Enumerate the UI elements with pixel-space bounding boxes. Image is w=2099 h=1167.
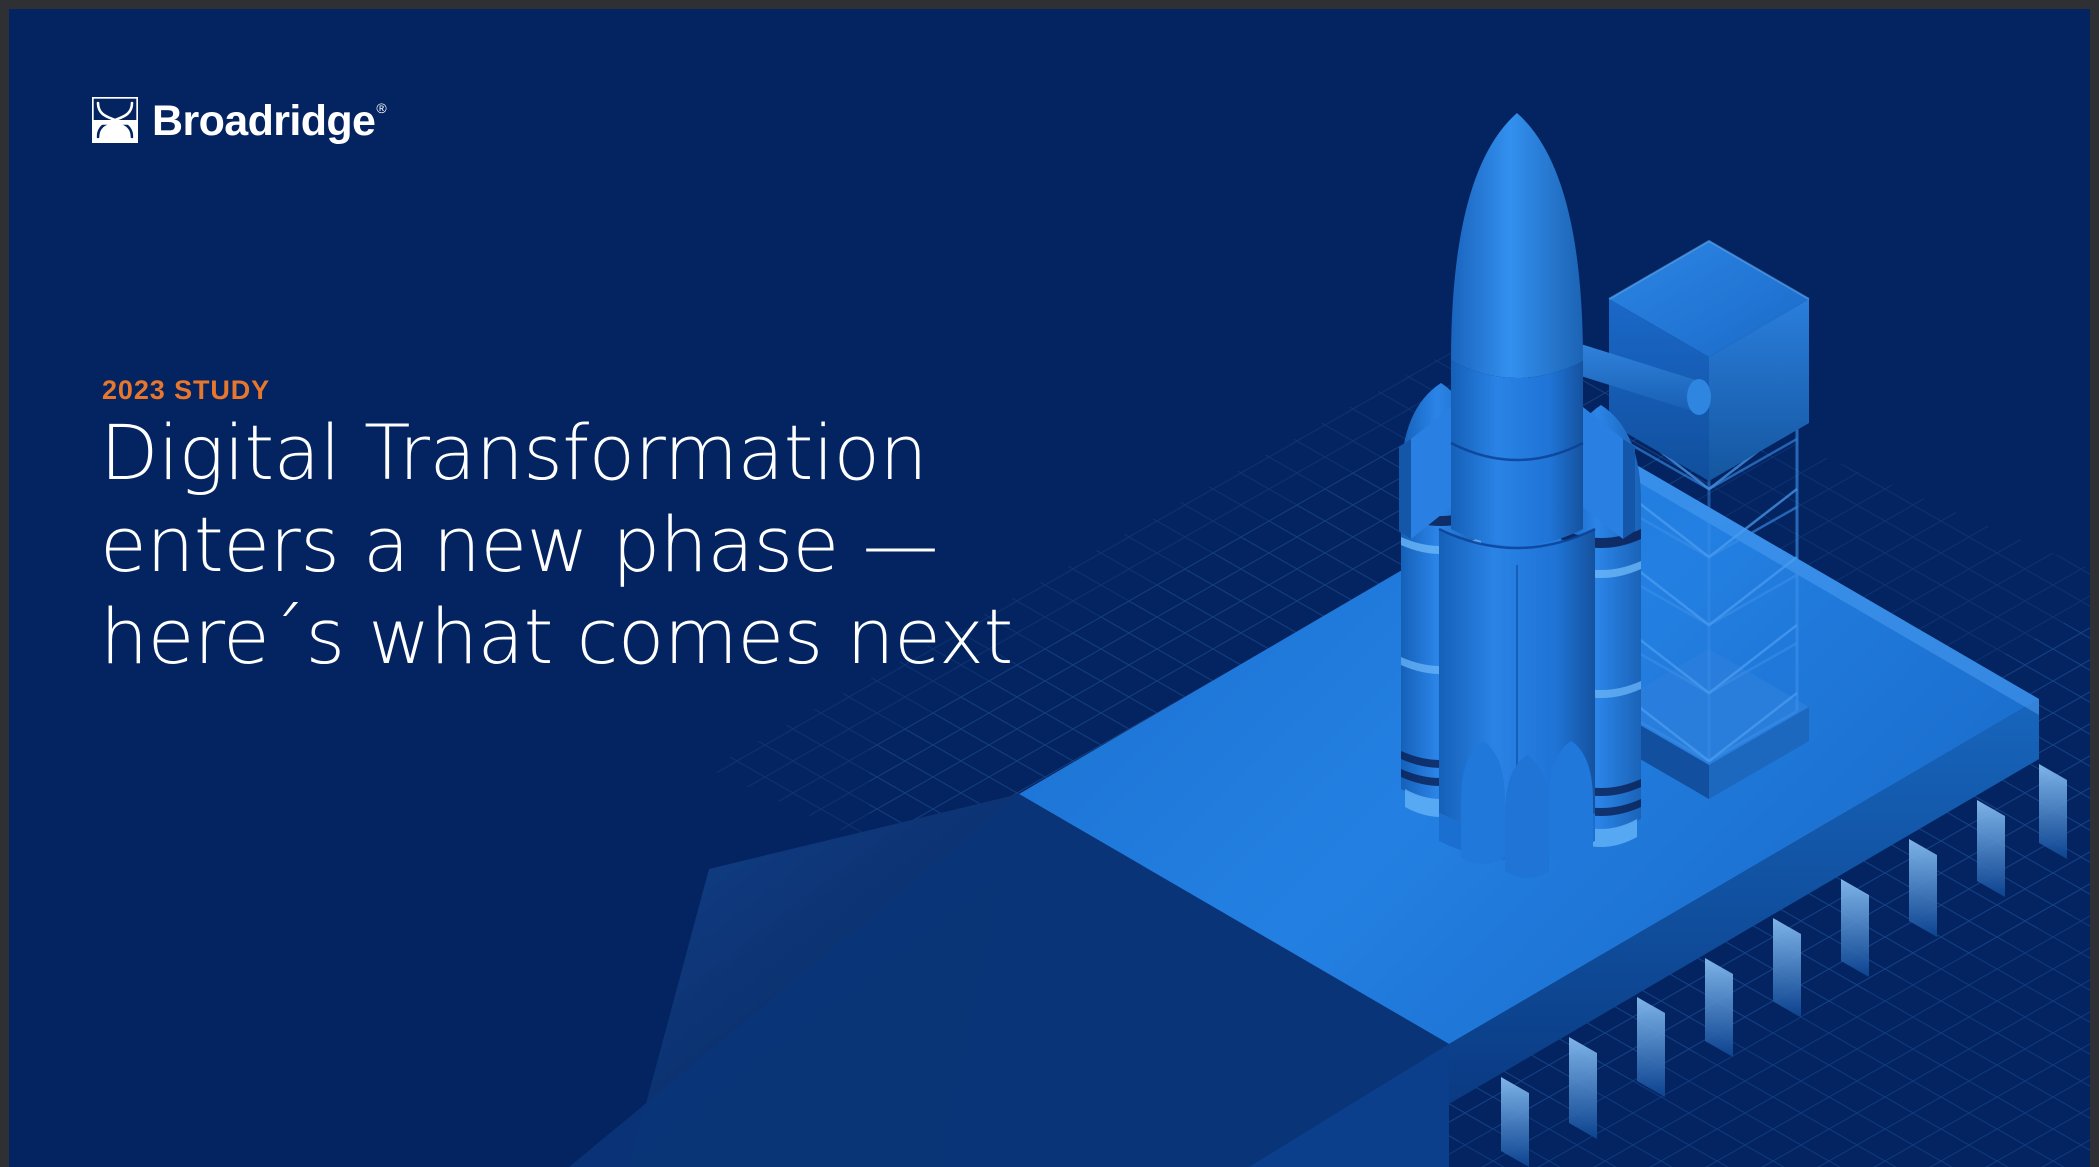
engine-nozzles [1461, 741, 1593, 878]
platform-front-face [939, 794, 1449, 1167]
tower-cube-top [1609, 241, 1809, 357]
right-booster [1561, 405, 1641, 847]
tower-cube-left [1609, 299, 1709, 481]
slide-canvas: Broadridge® 2023 STUDY Digital Transform… [9, 9, 2090, 1167]
broadridge-logo-mark-icon [92, 97, 138, 143]
eyebrow-label: 2023 STUDY [102, 375, 270, 406]
headline-line-3: here´s what comes next [100, 591, 1100, 683]
page-title: Digital Transformation enters a new phas… [100, 407, 1100, 683]
ground-grid-right [1259, 609, 2090, 1167]
platform-right-face [1449, 699, 2039, 1104]
fin-right [1583, 407, 1623, 539]
slide-frame: Broadridge® 2023 STUDY Digital Transform… [0, 0, 2099, 1167]
tower-lattice [1621, 371, 1797, 761]
platform-top-face [1019, 449, 2039, 1044]
platform-bottom-wedge [569, 794, 1449, 1167]
platform-left-wedge [629, 794, 1019, 1167]
headline-line-2: enters a new phase — [100, 499, 1100, 591]
headline-line-1: Digital Transformation [100, 407, 1100, 499]
broadridge-logo[interactable]: Broadridge® [92, 97, 385, 143]
left-booster [1401, 383, 1481, 817]
service-arm [1469, 305, 1711, 415]
wordmark-text: Broadridge [152, 97, 375, 145]
platform-supports [1501, 764, 2067, 1167]
tower-cube-right [1709, 299, 1809, 481]
launch-tower [1609, 241, 1809, 799]
registered-trademark-symbol: ® [376, 100, 386, 116]
platform-right-edge-highlight [1609, 449, 2039, 715]
main-rocket [1399, 113, 1635, 878]
fin-left [1411, 407, 1451, 539]
broadridge-wordmark: Broadridge® [152, 100, 385, 143]
